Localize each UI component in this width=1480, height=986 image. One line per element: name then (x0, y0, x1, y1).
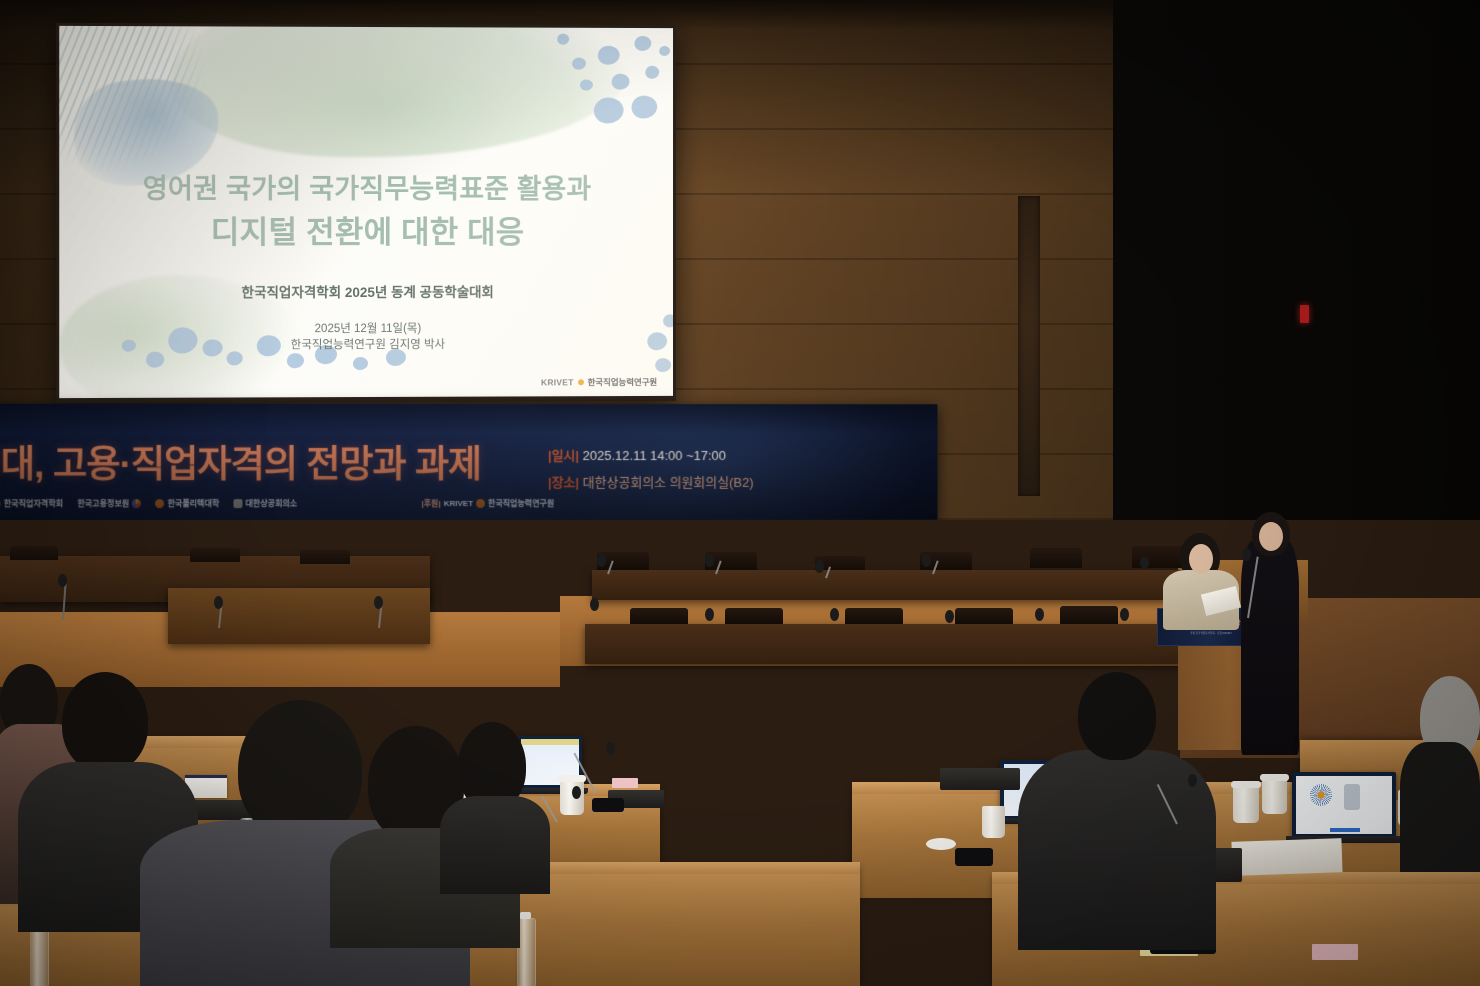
seatback (1060, 606, 1118, 624)
decor-blob (655, 358, 671, 372)
coffee-cup-lid (558, 775, 586, 782)
microphone-head-icon (830, 608, 839, 621)
krivet-logo-name: 한국직업능력연구원 (588, 376, 658, 388)
coffee-cup (982, 806, 1005, 838)
audience-member-body (440, 796, 550, 894)
seatback (300, 550, 350, 564)
microphone-head-icon (590, 598, 599, 611)
microphone-head-icon (945, 610, 954, 623)
krivet-logo-mark: KRIVET (541, 377, 574, 387)
projection-screen: 영어권 국가의 국가직무능력표준 활용과 디지털 전환에 대한 대응 한국직업자… (56, 23, 676, 403)
krivet-logo: KRIVET 한국직업능력연구원 (541, 376, 657, 388)
sticky-note (612, 778, 638, 788)
slide-date: 2025년 12월 11일(목) (59, 320, 673, 337)
slide-title-line2: 디지털 전환에 대한 대응 (59, 207, 673, 252)
banner-shading (0, 404, 937, 521)
microphone-head-icon (922, 554, 931, 567)
microphone-head-icon (815, 560, 824, 573)
seatback (955, 608, 1013, 624)
laptop-left-topbar (521, 739, 579, 745)
slide-subtitle: 한국직업자격학회 2025년 동계 공동학술대회 (59, 281, 673, 302)
audience-member-body (1018, 750, 1216, 950)
microphone-head-icon (1188, 774, 1197, 787)
tablet-logo-icon (1310, 784, 1332, 806)
desk-console-unit (940, 768, 1020, 790)
coffee-cup-lid (1231, 781, 1261, 788)
wall-recess-column (1018, 196, 1040, 496)
audience-desk-center-front (520, 868, 860, 986)
microphone-head-icon (705, 608, 714, 621)
decor-blob (634, 36, 651, 51)
decor-blob (645, 66, 659, 79)
water-bottle-cap (520, 912, 531, 919)
smartphone[interactable] (955, 848, 993, 866)
slide-title-line1: 영어권 국가의 국가직무능력표준 활용과 (59, 167, 673, 206)
presenter-body (1241, 540, 1299, 755)
coffee-cup (1233, 785, 1259, 823)
tablet-right-front[interactable] (1292, 772, 1396, 838)
seatback (725, 608, 783, 624)
audience-member-head (238, 700, 362, 840)
exit-indicator-light (1300, 305, 1309, 323)
seatback (845, 608, 903, 624)
decor-blob (612, 74, 630, 90)
decor-blob (353, 357, 368, 370)
seating-row-left-mid (168, 588, 430, 644)
microphone-head-icon (705, 554, 714, 567)
presenter-face (1259, 522, 1283, 551)
tablet-image-thumb (1344, 784, 1360, 810)
coffee-cup (560, 779, 584, 815)
conference-hall-photo: 영어권 국가의 국가직무능력표준 활용과 디지털 전환에 대한 대응 한국직업자… (0, 0, 1480, 986)
podium-microphone-head-icon (1242, 548, 1251, 561)
decor-blob (594, 98, 624, 124)
decor-blob (632, 96, 658, 119)
slide-date-presenter: 2025년 12월 11일(목) 한국직업능력연구원 김지영 박사 (59, 320, 673, 354)
hatch-pattern-decoration (59, 26, 204, 171)
microphone-head-icon (606, 742, 615, 755)
seating-row-near (585, 624, 1185, 664)
smartphone[interactable] (592, 798, 624, 812)
decor-blob (287, 353, 304, 368)
microphone-head-icon (1140, 556, 1149, 569)
tablet-progress-bar (1330, 828, 1360, 832)
krivet-logo-dot (578, 379, 584, 385)
dark-wall-right (1113, 0, 1480, 548)
microphone-head-icon (1120, 608, 1129, 621)
event-banner: 회 시대, 고용·직업자격의 전망과 과제 |일시| 2025.12.11 14… (0, 404, 937, 521)
microphone-head-icon (597, 554, 606, 567)
audience-desk-center-front-top (520, 862, 860, 874)
sticky-note (1312, 944, 1358, 960)
seating-row-far (592, 570, 1192, 600)
watercolor-green-wash (170, 26, 629, 157)
slide-presenter: 한국직업능력연구원 김지영 박사 (59, 336, 673, 354)
coffee-cup-lid (1260, 774, 1289, 781)
audience-member-head (62, 672, 148, 772)
microphone-head-icon (572, 786, 581, 799)
audience-member-body (1400, 742, 1480, 872)
seated-assistant-face (1189, 544, 1213, 574)
seatback (10, 546, 58, 560)
coffee-cup-lid (926, 838, 956, 850)
coffee-cup (1262, 778, 1287, 814)
microphone-head-icon (214, 596, 223, 609)
seatback (1030, 548, 1082, 568)
seatback (630, 608, 688, 624)
microphone-head-icon (1035, 608, 1044, 621)
handout-papers (1231, 838, 1342, 876)
seatback (190, 548, 240, 562)
audience-member-head (1078, 672, 1156, 760)
microphone-head-icon (58, 574, 67, 587)
presentation-slide: 영어권 국가의 국가직무능력표준 활용과 디지털 전환에 대한 대응 한국직업자… (59, 26, 673, 398)
microphone-head-icon (374, 596, 383, 609)
decor-blob (659, 46, 670, 56)
